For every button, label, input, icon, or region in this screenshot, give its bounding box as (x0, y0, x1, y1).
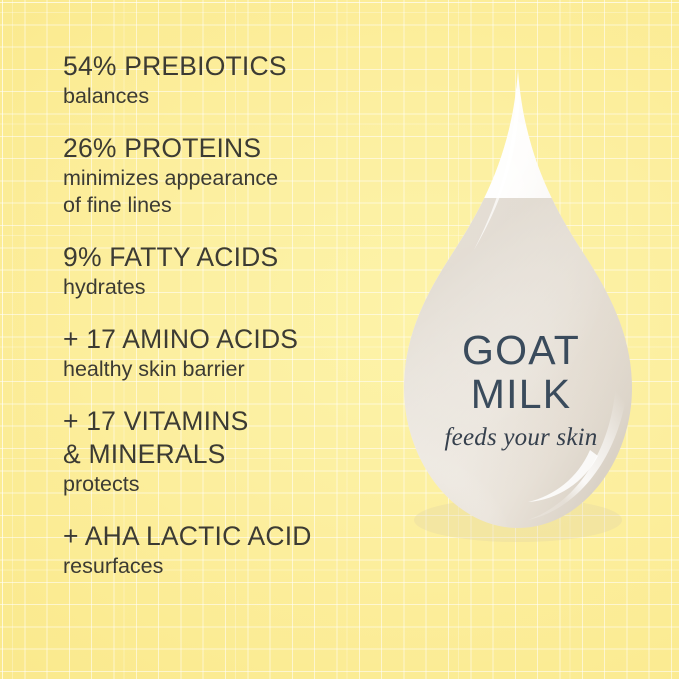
brand-tagline: feeds your skin (378, 423, 664, 453)
list-item: + 17 VITAMINS & MINERALS protects (63, 405, 393, 498)
fact-subtitle: minimizes appearance of fine lines (63, 165, 393, 219)
fact-title: 26% PROTEINS (63, 132, 393, 165)
product-infographic: 54% PREBIOTICS balances 26% PROTEINS min… (0, 0, 679, 679)
fact-title: + 17 AMINO ACIDS (63, 323, 393, 356)
fact-title: + 17 VITAMINS & MINERALS (63, 405, 393, 471)
fact-subtitle: healthy skin barrier (63, 356, 393, 383)
list-item: 26% PROTEINS minimizes appearance of fin… (63, 132, 393, 219)
fact-subtitle: resurfaces (63, 553, 393, 580)
fact-subtitle: protects (63, 471, 393, 498)
list-item: + 17 AMINO ACIDS healthy skin barrier (63, 323, 393, 383)
ingredient-fact-list: 54% PREBIOTICS balances 26% PROTEINS min… (63, 50, 393, 580)
fact-title: 9% FATTY ACIDS (63, 241, 393, 274)
milk-droplet-icon (378, 58, 664, 558)
list-item: 9% FATTY ACIDS hydrates (63, 241, 393, 301)
brand-name-line-1: GOAT (378, 328, 664, 372)
list-item: + AHA LACTIC ACID resurfaces (63, 520, 393, 580)
brand-name-line-2: MILK (378, 372, 664, 416)
fact-title: + AHA LACTIC ACID (63, 520, 393, 553)
fact-subtitle: balances (63, 83, 393, 110)
fact-title: 54% PREBIOTICS (63, 50, 393, 83)
milk-droplet: GOAT MILK feeds your skin (378, 58, 664, 558)
list-item: 54% PREBIOTICS balances (63, 50, 393, 110)
fact-subtitle: hydrates (63, 274, 393, 301)
